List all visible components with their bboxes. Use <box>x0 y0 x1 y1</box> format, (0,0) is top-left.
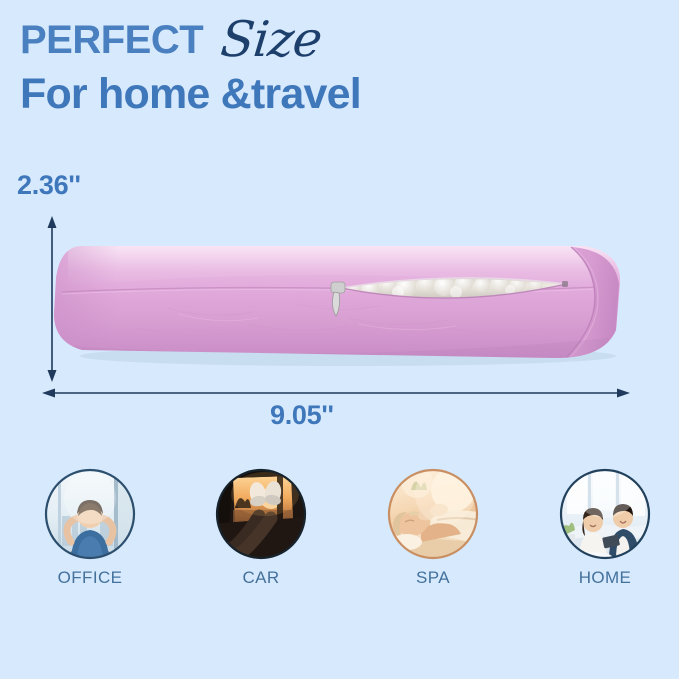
product-infographic: PERFECTSize For home &travel 2.36'' <box>0 0 679 679</box>
height-dimension-label: 2.36'' <box>17 170 81 201</box>
headline-line-1: PERFECTSize <box>20 14 321 66</box>
office-relax-icon <box>44 468 136 560</box>
headline-word-perfect: PERFECT <box>20 18 203 62</box>
use-case-spa[interactable]: SPA <box>370 468 496 588</box>
home-couple-sofa-icon <box>559 468 651 560</box>
use-case-home-label: HOME <box>542 568 668 588</box>
use-case-home[interactable]: HOME <box>542 468 668 588</box>
use-case-spa-label: SPA <box>370 568 496 588</box>
headline-block: PERFECTSize For home &travel <box>20 14 660 124</box>
use-case-row: OFFICE <box>0 468 679 600</box>
spa-massage-icon <box>387 468 479 560</box>
car-feet-up-icon <box>215 468 307 560</box>
use-case-office[interactable]: OFFICE <box>27 468 153 588</box>
product-image-bolster-pillow <box>48 228 630 368</box>
use-case-office-label: OFFICE <box>27 568 153 588</box>
width-dimension-arrow <box>40 382 632 404</box>
use-case-car[interactable]: CAR <box>198 468 324 588</box>
headline-word-size-script: Size <box>218 14 324 66</box>
width-dimension-label: 9.05'' <box>270 400 334 431</box>
zipper-stop-icon <box>562 281 568 287</box>
use-case-car-label: CAR <box>198 568 324 588</box>
headline-line-2: For home &travel <box>20 66 361 122</box>
